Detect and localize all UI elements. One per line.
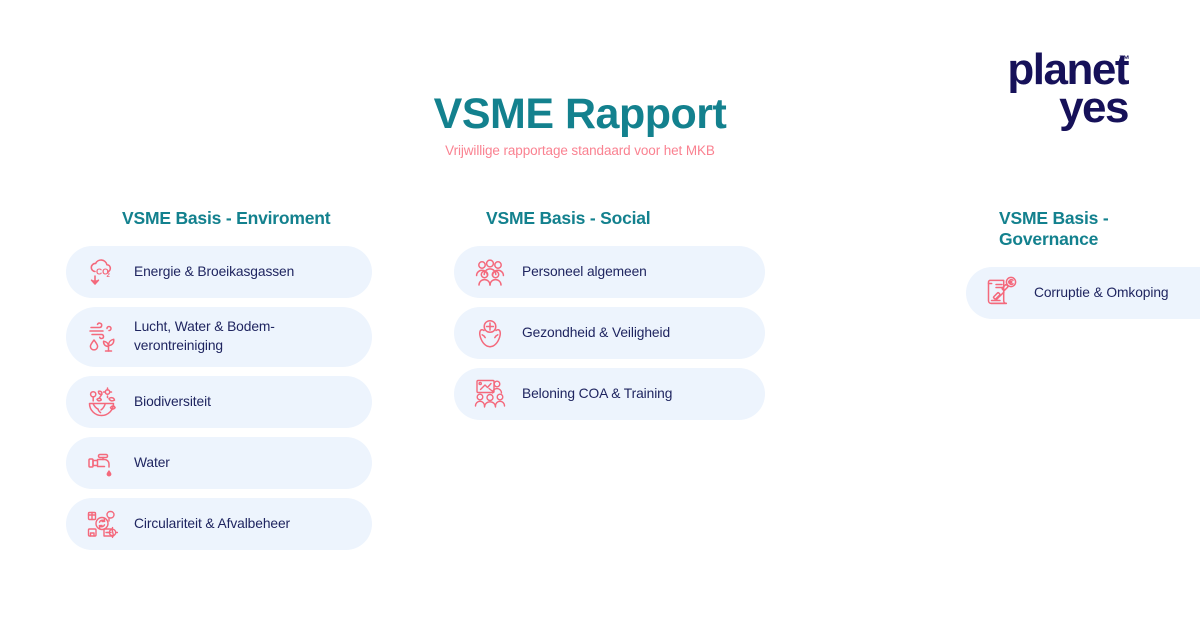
column-title-social: VSME Basis - Social [486, 208, 771, 229]
svg-text:2: 2 [107, 273, 111, 279]
list-item[interactable]: Personeel algemeen [454, 246, 765, 298]
list-item-label: Circulariteit & Afvalbeheer [134, 515, 290, 534]
circularity-recycle-icon [80, 502, 124, 546]
list-item[interactable]: Water [66, 437, 372, 489]
list-item-label: Lucht, Water & Bodem-verontreiniging [134, 318, 356, 355]
list-item-label: Corruptie & Omkoping [1034, 284, 1169, 303]
list-item[interactable]: Lucht, Water & Bodem-verontreiniging [66, 307, 372, 367]
topic-list-environment: CO 2 Energie & Broeikasgassen [66, 246, 400, 550]
list-item-label: Personeel algemeen [522, 263, 647, 282]
column-title-governance: VSME Basis - Governance [999, 208, 1200, 250]
air-water-soil-icon [80, 315, 124, 359]
biodiversity-globe-icon [80, 380, 124, 424]
training-presentation-icon [468, 372, 512, 416]
list-item[interactable]: Beloning COA & Training [454, 368, 765, 420]
column-environment: VSME Basis - Enviroment CO 2 Energie & B… [0, 208, 400, 559]
list-item[interactable]: Corruptie & Omkoping [966, 267, 1200, 319]
column-social: VSME Basis - Social [400, 208, 771, 559]
topic-list-governance: Corruptie & Omkoping [771, 267, 1200, 319]
topic-list-social: Personeel algemeen Gezondheid & Veilighe… [454, 246, 771, 420]
co2-cloud-icon: CO 2 [80, 250, 124, 294]
water-tap-icon [80, 441, 124, 485]
topic-columns: VSME Basis - Enviroment CO 2 Energie & B… [0, 208, 1200, 559]
gavel-document-euro-icon [980, 271, 1024, 315]
list-item-label: Beloning COA & Training [522, 385, 672, 404]
list-item[interactable]: Biodiversiteit [66, 376, 372, 428]
health-hands-cross-icon [468, 311, 512, 355]
list-item-label: Energie & Broeikasgassen [134, 263, 294, 282]
list-item-label: Gezondheid & Veiligheid [522, 324, 670, 343]
list-item[interactable]: CO 2 Energie & Broeikasgassen [66, 246, 372, 298]
page-subtitle: Vrijwillige rapportage standaard voor he… [0, 143, 1160, 158]
page-title: VSME Rapport [0, 90, 1160, 139]
list-item-label: Biodiversiteit [134, 393, 211, 412]
list-item-label: Water [134, 454, 170, 473]
column-title-environment: VSME Basis - Enviroment [122, 208, 400, 229]
people-group-icon [468, 250, 512, 294]
trademark-symbol: ™ [1119, 56, 1130, 65]
column-governance: VSME Basis - Governance [771, 208, 1200, 559]
list-item[interactable]: Circulariteit & Afvalbeheer [66, 498, 372, 550]
list-item[interactable]: Gezondheid & Veiligheid [454, 307, 765, 359]
header: VSME Rapport Vrijwillige rapportage stan… [0, 90, 1160, 158]
